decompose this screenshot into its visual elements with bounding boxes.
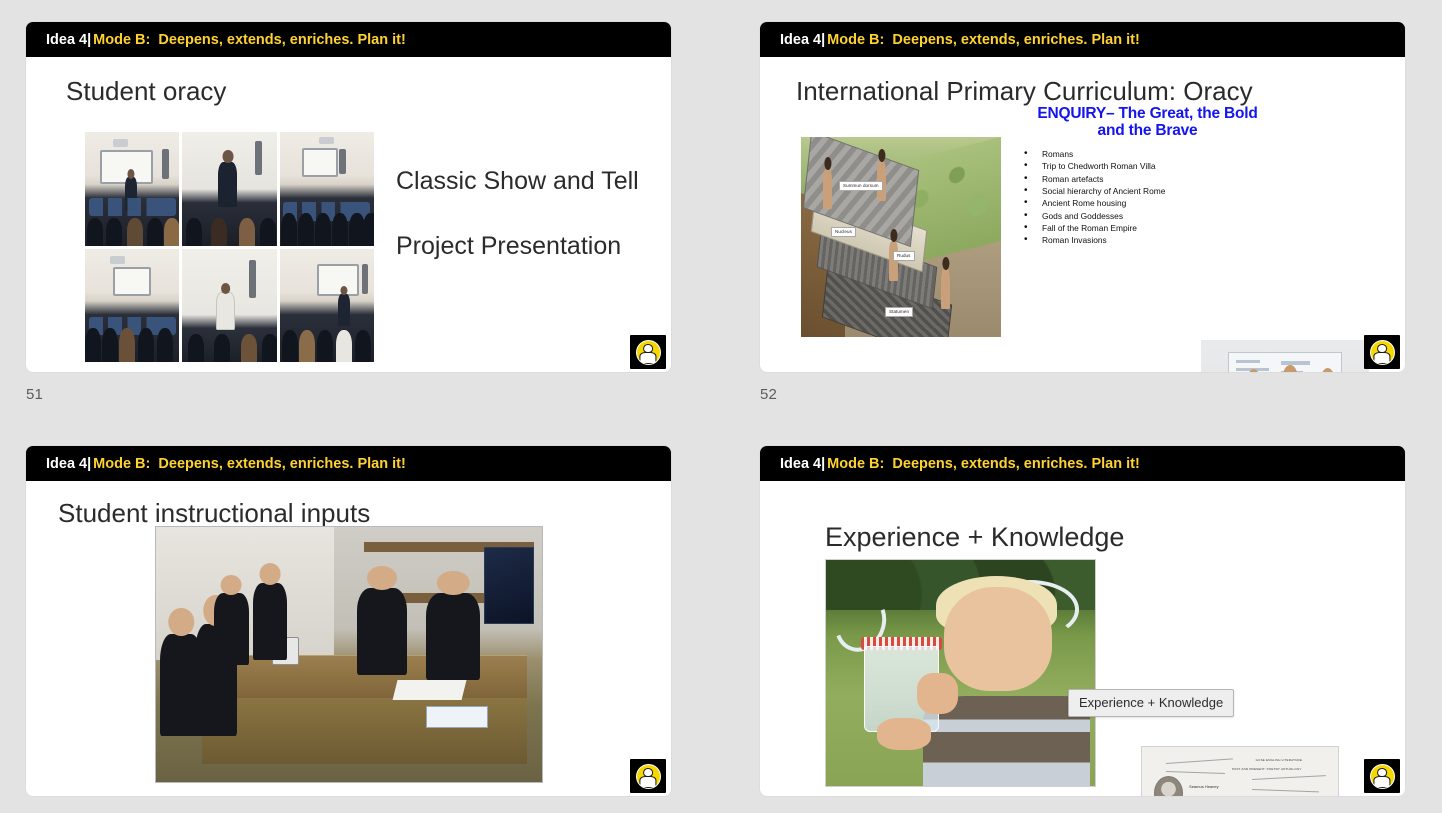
list-item: Romans (1020, 148, 1165, 160)
diagram-label-nucleus: Nucleus (831, 227, 856, 237)
enquiry-heading: ENQUIRY– The Great, the Bold and the Bra… (1015, 105, 1280, 140)
crest-emblem-icon (1370, 340, 1395, 365)
classroom-photo-3 (280, 132, 374, 246)
student-presenter-2 (426, 593, 480, 680)
banner-mode-label: Mode B: Deepens, extends, enriches. Plan… (827, 456, 1140, 472)
enquiry-heading-line-2: and the Brave (1015, 122, 1280, 139)
banner-mode-label: Mode B: Deepens, extends, enriches. Plan… (93, 32, 406, 48)
list-item: Ancient Rome housing (1020, 197, 1165, 209)
banner-idea-label: Idea 4| (780, 456, 825, 472)
classroom-presentation-photo-grid (85, 132, 374, 362)
slide-number-52: 52 (760, 386, 777, 403)
student-presenter-1 (357, 588, 407, 675)
slide-number-51: 51 (26, 386, 43, 403)
slide-thumbnail-54[interactable]: Idea 4| Mode B: Deepens, extends, enrich… (760, 446, 1405, 796)
primary-pupils-presenting-photo (1201, 340, 1369, 372)
notes-header-right: GCSE ENGLISH LITERATURE (1256, 758, 1302, 762)
classroom-photo-4 (85, 249, 179, 363)
school-crest-logo (1364, 759, 1400, 793)
standing-student-4 (253, 583, 288, 660)
slide-banner: Idea 4| Mode B: Deepens, extends, enrich… (26, 22, 671, 57)
enquiry-heading-line-1: ENQUIRY– The Great, the Bold (1015, 105, 1280, 122)
classroom-photo-6 (280, 249, 374, 363)
annotated-poem-notes-photo: GCSE ENGLISH LITERATURE PAST AND PRESENT… (1141, 746, 1339, 796)
crest-emblem-icon (1370, 764, 1395, 789)
school-crest-logo (1364, 335, 1400, 369)
slide-banner: Idea 4| Mode B: Deepens, extends, enrich… (26, 446, 671, 481)
slide-body-line-2: Project Presentation (396, 232, 621, 261)
slide-title: Experience + Knowledge (825, 522, 1124, 553)
science-lab-demonstration-photo (155, 526, 543, 783)
slide-title: International Primary Curriculum: Oracy (796, 76, 1253, 107)
crest-emblem-icon (636, 764, 661, 789)
image-alt-text-tooltip: Experience + Knowledge (1068, 689, 1234, 717)
diagram-label-rudus: Rudus (893, 251, 915, 261)
classroom-photo-5 (182, 249, 276, 363)
crest-emblem-icon (636, 340, 661, 365)
list-item: Roman artefacts (1020, 173, 1165, 185)
slide-banner: Idea 4| Mode B: Deepens, extends, enrich… (760, 446, 1405, 481)
list-item: Gods and Goddesses (1020, 210, 1165, 222)
hand-upper (917, 673, 957, 714)
slide-thumbnail-51[interactable]: Idea 4| Mode B: Deepens, extends, enrich… (26, 22, 671, 372)
diagram-label-summum-dorsum: Summun dorsum (839, 181, 883, 191)
banner-mode-label: Mode B: Deepens, extends, enriches. Plan… (827, 32, 1140, 48)
seated-student-3 (214, 593, 249, 664)
hand-lower (877, 718, 931, 750)
list-item: Roman Invasions (1020, 234, 1165, 246)
roman-road-cutaway-diagram: Summun dorsum Nucleus Rudus Statumen (801, 137, 1001, 337)
poet-name: Seamus Heaney (1189, 784, 1219, 789)
banner-idea-label: Idea 4| (780, 32, 825, 48)
slide-title: Student instructional inputs (58, 498, 370, 529)
banner-idea-label: Idea 4| (46, 456, 91, 472)
banner-mode-label: Mode B: Deepens, extends, enriches. Plan… (93, 456, 406, 472)
school-crest-logo (630, 335, 666, 369)
classroom-photo-2 (182, 132, 276, 246)
banner-idea-label: Idea 4| (46, 32, 91, 48)
slide-thumbnail-page: Idea 4| Mode B: Deepens, extends, enrich… (0, 0, 1442, 813)
enquiry-topic-list: Romans Trip to Chedworth Roman Villa Rom… (1020, 148, 1165, 247)
boy-with-insect-jar-photo (825, 559, 1096, 787)
list-item: Social hierarchy of Ancient Rome (1020, 185, 1165, 197)
slide-thumbnail-52[interactable]: Idea 4| Mode B: Deepens, extends, enrich… (760, 22, 1405, 372)
slide-thumbnail-53[interactable]: Idea 4| Mode B: Deepens, extends, enrich… (26, 446, 671, 796)
slide-banner: Idea 4| Mode B: Deepens, extends, enrich… (760, 22, 1405, 57)
school-crest-logo (630, 759, 666, 793)
list-item: Trip to Chedworth Roman Villa (1020, 160, 1165, 172)
slide-title: Student oracy (66, 76, 226, 107)
notes-header-right-2: PAST AND PRESENT: POETRY ANTHOLOGY (1232, 767, 1301, 771)
list-item: Fall of the Roman Empire (1020, 222, 1165, 234)
classroom-photo-1 (85, 132, 179, 246)
diagram-label-statumen: Statumen (885, 307, 913, 317)
slide-body-line-1: Classic Show and Tell (396, 167, 639, 196)
